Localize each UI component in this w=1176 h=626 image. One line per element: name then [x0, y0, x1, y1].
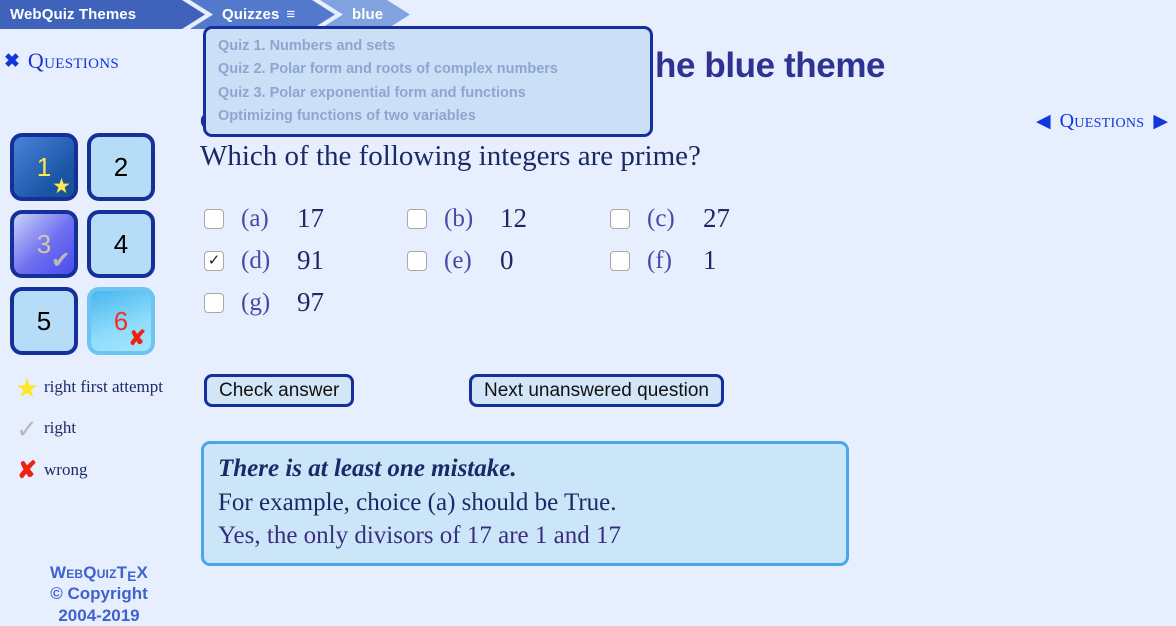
option-value: 27: [703, 203, 730, 234]
star-icon: ★: [10, 375, 44, 402]
question-button-5[interactable]: 5: [10, 287, 78, 355]
option-b[interactable]: (b) 12: [407, 203, 610, 234]
sidebar-header: ✖ Questions: [4, 48, 119, 74]
option-d[interactable]: ✓ (d) 91: [204, 245, 407, 276]
options-row: (a) 17 (b) 12 (c) 27: [204, 203, 824, 234]
check-icon: ✓: [10, 416, 44, 443]
option-c[interactable]: (c) 27: [610, 203, 813, 234]
brand-logo-e: E: [127, 569, 136, 586]
sidebar: ✖ Questions 1 ★ 2 3 ✔ 4 5: [0, 0, 198, 619]
option-letter: (a): [241, 205, 283, 233]
legend-row-right-first: ★ right first attempt: [10, 375, 190, 402]
footer-years: 2004-2019: [0, 605, 198, 626]
close-icon[interactable]: ✖: [4, 52, 20, 71]
question-button-label: 1: [37, 152, 51, 183]
question-button-label: 4: [114, 229, 128, 260]
options-row: (g) 97: [204, 287, 824, 318]
check-icon: ✔: [51, 249, 71, 273]
sidebar-footer: WebQuizTEX © Copyright 2004-2019: [0, 562, 198, 626]
check-answer-button[interactable]: Check answer: [204, 374, 354, 407]
option-letter: (e): [444, 247, 486, 275]
dropdown-item-quiz-3[interactable]: Quiz 3. Polar exponential form and funct…: [206, 81, 650, 105]
option-letter: (g): [241, 289, 283, 317]
option-a[interactable]: (a) 17: [204, 203, 407, 234]
legend-row-wrong: ✘ wrong: [10, 458, 190, 483]
question-button-label: 2: [114, 152, 128, 183]
next-arrow-icon[interactable]: ▶: [1153, 112, 1168, 131]
dropdown-item-quiz-1[interactable]: Quiz 1. Numbers and sets: [206, 34, 650, 58]
option-e[interactable]: (e) 0: [407, 245, 610, 276]
question-button-6[interactable]: 6 ✘: [87, 287, 155, 355]
feedback-box: There is at least one mistake. For examp…: [201, 441, 849, 566]
question-button-label: 6: [114, 306, 128, 337]
dropdown-item-optimizing[interactable]: Optimizing functions of two variables: [206, 105, 650, 129]
option-value: 12: [500, 203, 527, 234]
checkbox-f[interactable]: [610, 251, 630, 271]
checkbox-d[interactable]: ✓: [204, 251, 224, 271]
option-g[interactable]: (g) 97: [204, 287, 407, 318]
legend-label: wrong: [44, 458, 87, 480]
breadcrumb-item-quizzes[interactable]: Quizzes ≡: [190, 0, 335, 29]
legend-label: right first attempt: [44, 375, 163, 397]
star-icon: ★: [52, 176, 71, 197]
legend-row-right: ✓ right: [10, 416, 190, 443]
question-text: Which of the following integers are prim…: [200, 140, 701, 173]
cross-icon: ✘: [128, 328, 146, 349]
question-grid-row: 5 6 ✘: [10, 287, 170, 355]
question-button-1[interactable]: 1 ★: [10, 133, 78, 201]
next-unanswered-question-button[interactable]: Next unanswered question: [469, 374, 724, 407]
brand-logo: WebQuizTEX: [0, 562, 198, 583]
checkbox-g[interactable]: [204, 293, 224, 313]
option-f[interactable]: (f) 1: [610, 245, 813, 276]
checkbox-c[interactable]: [610, 209, 630, 229]
questions-nav-label[interactable]: Questions: [1060, 110, 1145, 133]
question-grid-row: 3 ✔ 4: [10, 210, 170, 278]
option-value: 1: [703, 245, 717, 276]
checkbox-e[interactable]: [407, 251, 427, 271]
question-grid: 1 ★ 2 3 ✔ 4 5 6 ✘: [10, 133, 170, 364]
legend-label: right: [44, 416, 76, 438]
quiz-dropdown-menu[interactable]: Quiz 1. Numbers and sets Quiz 2. Polar f…: [203, 26, 653, 137]
question-button-4[interactable]: 4: [87, 210, 155, 278]
page-title: he blue theme: [655, 46, 885, 86]
action-buttons: Check answer Next unanswered question: [204, 374, 904, 408]
checkbox-b[interactable]: [407, 209, 427, 229]
option-value: 91: [297, 245, 324, 276]
checkbox-a[interactable]: [204, 209, 224, 229]
option-letter: (d): [241, 247, 283, 275]
option-letter: (f): [647, 247, 689, 275]
footer-copyright: © Copyright: [0, 583, 198, 604]
breadcrumb-label-quizzes: Quizzes: [222, 6, 279, 23]
question-button-label: 3: [37, 229, 51, 260]
option-value: 17: [297, 203, 324, 234]
question-grid-row: 1 ★ 2: [10, 133, 170, 201]
question-button-2[interactable]: 2: [87, 133, 155, 201]
option-value: 97: [297, 287, 324, 318]
sidebar-header-label: Questions: [28, 48, 119, 74]
brand-logo-x: X: [137, 563, 149, 582]
options-row: ✓ (d) 91 (e) 0 (f) 1: [204, 245, 824, 276]
brand-logo-prefix: WebQuiz: [50, 563, 117, 582]
prev-arrow-icon[interactable]: ◀: [1036, 112, 1051, 131]
brand-logo-t: T: [117, 563, 128, 582]
breadcrumb-label-blue: blue: [352, 6, 383, 23]
questions-nav: ◀ Questions ▶: [1036, 110, 1168, 133]
question-button-label: 5: [37, 306, 51, 337]
feedback-detail: For example, choice (a) should be True.: [218, 486, 832, 519]
options-list: (a) 17 (b) 12 (c) 27 ✓ (d) 91 (e): [204, 203, 824, 329]
option-letter: (b): [444, 205, 486, 233]
feedback-headline: There is at least one mistake.: [218, 453, 832, 486]
option-value: 0: [500, 245, 514, 276]
legend: ★ right first attempt ✓ right ✘ wrong: [10, 375, 190, 497]
hamburger-menu-icon[interactable]: ≡: [286, 7, 295, 22]
question-button-3[interactable]: 3 ✔: [10, 210, 78, 278]
cross-icon: ✘: [10, 458, 44, 483]
option-letter: (c): [647, 205, 689, 233]
feedback-explanation: Yes, the only divisors of 17 are 1 and 1…: [218, 519, 832, 552]
dropdown-item-quiz-2[interactable]: Quiz 2. Polar form and roots of complex …: [206, 58, 650, 82]
